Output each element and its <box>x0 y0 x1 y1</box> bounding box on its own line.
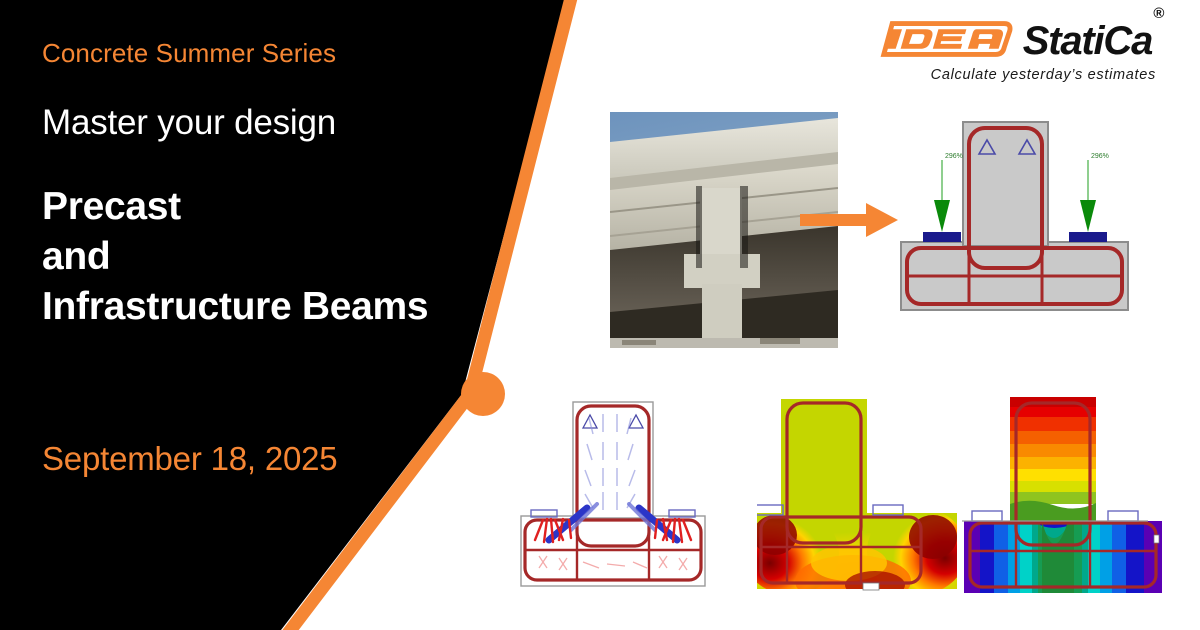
brand-logo: StatiCa® Calculate yesterday’s estimates <box>874 18 1162 83</box>
rebar-section-diagram: 296% 296% <box>893 112 1136 347</box>
load-label-right: 296% <box>1091 153 1109 160</box>
subtitle: Master your design <box>42 103 336 143</box>
registered-icon: ® <box>1153 5 1163 22</box>
concrete-stress-contour <box>757 385 967 597</box>
transform-arrow-icon <box>800 200 900 240</box>
headline-text-block: Concrete Summer Series Master your desig… <box>42 0 512 630</box>
headline-line-3: Infrastructure Beams <box>42 282 428 332</box>
brand-tagline: Calculate yesterday’s estimates <box>874 67 1156 83</box>
idea-logo-icon <box>874 18 1014 60</box>
statica-text: StatiCa <box>1023 19 1152 63</box>
statica-wordmark: StatiCa® <box>1023 23 1162 60</box>
principal-stress-trajectories <box>513 388 713 598</box>
headline-line-1: Precast <box>42 182 428 232</box>
deformation-contour <box>958 385 1176 600</box>
page-title: Precast and Infrastructure Beams <box>42 182 428 332</box>
webinar-banner: Concrete Summer Series Master your desig… <box>0 0 1200 630</box>
headline-line-2: and <box>42 232 428 282</box>
load-label-left: 296% <box>945 153 963 160</box>
series-eyebrow: Concrete Summer Series <box>42 38 336 69</box>
event-date: September 18, 2025 <box>42 440 337 478</box>
